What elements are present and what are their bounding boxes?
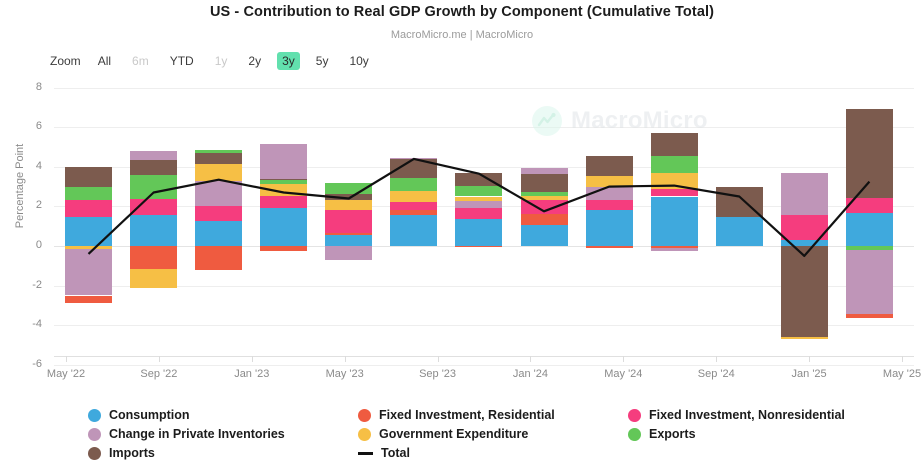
legend-label: Exports (649, 427, 696, 441)
bar-segment (586, 210, 633, 246)
bar-segment (781, 173, 828, 216)
bar-column[interactable] (716, 0, 763, 468)
bar-segment (651, 173, 698, 189)
legend-spacer (628, 446, 908, 460)
legend-swatch-icon (358, 428, 371, 441)
bar-column[interactable] (455, 0, 502, 468)
bar-column[interactable] (521, 0, 568, 468)
bar-segment (521, 196, 568, 201)
bar-segment (781, 215, 828, 240)
bar-column[interactable] (846, 0, 893, 468)
bar-segment (195, 181, 242, 207)
bar-segment (586, 176, 633, 187)
bar-segment (521, 225, 568, 246)
bar-segment (521, 168, 568, 174)
legend-label: Government Expenditure (379, 427, 528, 441)
x-tick-mark (902, 356, 903, 362)
bar-column[interactable] (586, 0, 633, 468)
bar-column[interactable] (65, 0, 112, 468)
chart-plot-area: Percentage Point 86420-2-4-6 May '22Sep … (0, 0, 924, 468)
bar-segment (325, 200, 372, 210)
bar-segment (586, 246, 633, 248)
legend-swatch-icon (88, 447, 101, 460)
legend-item-exports[interactable]: Exports (628, 427, 908, 441)
bar-segment (325, 183, 372, 194)
bar-segment (65, 249, 112, 296)
bar-column[interactable] (195, 0, 242, 468)
bar-segment (455, 208, 502, 219)
bar-segment (846, 109, 893, 198)
legend-swatch-icon (88, 409, 101, 422)
bar-segment (586, 187, 633, 201)
bar-segment (130, 246, 177, 269)
legend-item-fixed-investment-residential[interactable]: Fixed Investment, Residential (358, 408, 628, 422)
y-tick-label: 4 (8, 160, 42, 172)
legend-item-government-expenditure[interactable]: Government Expenditure (358, 427, 628, 441)
bar-segment (651, 133, 698, 156)
legend-label: Imports (109, 446, 155, 460)
bar-segment (455, 219, 502, 246)
legend-label: Change in Private Inventories (109, 427, 285, 441)
bar-segment (65, 187, 112, 201)
bar-segment (130, 215, 177, 246)
bar-segment (130, 175, 177, 200)
legend-item-change-in-private-inventories[interactable]: Change in Private Inventories (88, 427, 358, 441)
bar-column[interactable] (390, 0, 437, 468)
legend-item-fixed-investment-nonresidential[interactable]: Fixed Investment, Nonresidential (628, 408, 908, 422)
bar-segment (651, 248, 698, 251)
legend-row: Consumption Fixed Investment, Residentia… (88, 408, 908, 422)
legend-label: Total (381, 446, 410, 460)
bar-segment (455, 197, 502, 202)
chart-page: US - Contribution to Real GDP Growth by … (0, 0, 924, 468)
bar-segment (325, 246, 372, 260)
bar-segment (390, 178, 437, 191)
y-tick-label: -4 (8, 318, 42, 330)
y-tick-label: 8 (8, 81, 42, 93)
bar-segment (260, 144, 307, 179)
y-tick-label: 2 (8, 199, 42, 211)
legend-row: Change in Private Inventories Government… (88, 427, 908, 441)
bar-column[interactable] (325, 0, 372, 468)
bar-segment (651, 189, 698, 197)
x-tick-mark (438, 356, 439, 362)
legend-item-imports[interactable]: Imports (88, 446, 358, 460)
legend-swatch-icon (628, 409, 641, 422)
bar-segment (65, 217, 112, 246)
bar-segment (260, 246, 307, 251)
bar-segment (260, 180, 307, 184)
bar-segment (521, 214, 568, 225)
bar-segment (325, 194, 372, 201)
bar-segment (781, 337, 828, 339)
bar-segment (521, 200, 568, 214)
bar-segment (260, 208, 307, 246)
y-tick-label: 6 (8, 120, 42, 132)
legend-swatch-icon (358, 409, 371, 422)
bar-segment (65, 167, 112, 187)
bar-segment (586, 200, 633, 210)
bar-segment (455, 186, 502, 197)
legend-swatch-icon (628, 428, 641, 441)
legend-label: Fixed Investment, Residential (379, 408, 555, 422)
bar-segment (390, 215, 437, 246)
bar-column[interactable] (781, 0, 828, 468)
legend-item-total[interactable]: Total (358, 446, 628, 460)
bar-column[interactable] (260, 0, 307, 468)
bar-segment (455, 201, 502, 208)
bar-segment (390, 158, 437, 159)
bar-segment (846, 250, 893, 314)
legend-label: Fixed Investment, Nonresidential (649, 408, 845, 422)
bar-segment (195, 164, 242, 181)
legend-line-icon (358, 452, 373, 455)
bar-segment (846, 198, 893, 213)
bar-segment (195, 150, 242, 153)
bar-segment (455, 246, 502, 247)
bar-segment (651, 197, 698, 247)
bar-segment (130, 269, 177, 288)
legend-row: Imports Total (88, 446, 908, 460)
bar-segment (846, 213, 893, 246)
bar-segment (455, 173, 502, 186)
bar-segment (130, 151, 177, 160)
bar-segment (260, 179, 307, 180)
bar-segment (325, 233, 372, 235)
bar-segment (390, 191, 437, 203)
chart-legend[interactable]: Consumption Fixed Investment, Residentia… (88, 408, 908, 465)
bar-segment (521, 192, 568, 196)
bar-segment (195, 153, 242, 164)
bar-column[interactable] (651, 0, 698, 468)
bar-segment (390, 159, 437, 178)
bar-segment (390, 202, 437, 210)
y-tick-label: -2 (8, 279, 42, 291)
bar-segment (130, 160, 177, 175)
bar-segment (716, 187, 763, 218)
bar-segment (65, 296, 112, 304)
bar-segment (260, 184, 307, 196)
bar-segment (325, 235, 372, 246)
bar-segment (781, 246, 828, 337)
bar-segment (716, 217, 763, 246)
bar-segment (195, 206, 242, 221)
x-tick-mark (252, 356, 253, 362)
bar-segment (651, 156, 698, 173)
bar-segment (325, 210, 372, 233)
bar-segment (130, 199, 177, 215)
legend-item-consumption[interactable]: Consumption (88, 408, 358, 422)
y-tick-label: 0 (8, 239, 42, 251)
bar-segment (260, 196, 307, 209)
bar-column[interactable] (130, 0, 177, 468)
legend-label: Consumption (109, 408, 190, 422)
legend-swatch-icon (88, 428, 101, 441)
bar-segment (195, 246, 242, 270)
bar-segment (390, 210, 437, 215)
bar-segment (521, 174, 568, 192)
bar-segment (195, 221, 242, 246)
bar-segment (846, 314, 893, 318)
bar-segment (586, 156, 633, 176)
bar-segment (65, 200, 112, 217)
